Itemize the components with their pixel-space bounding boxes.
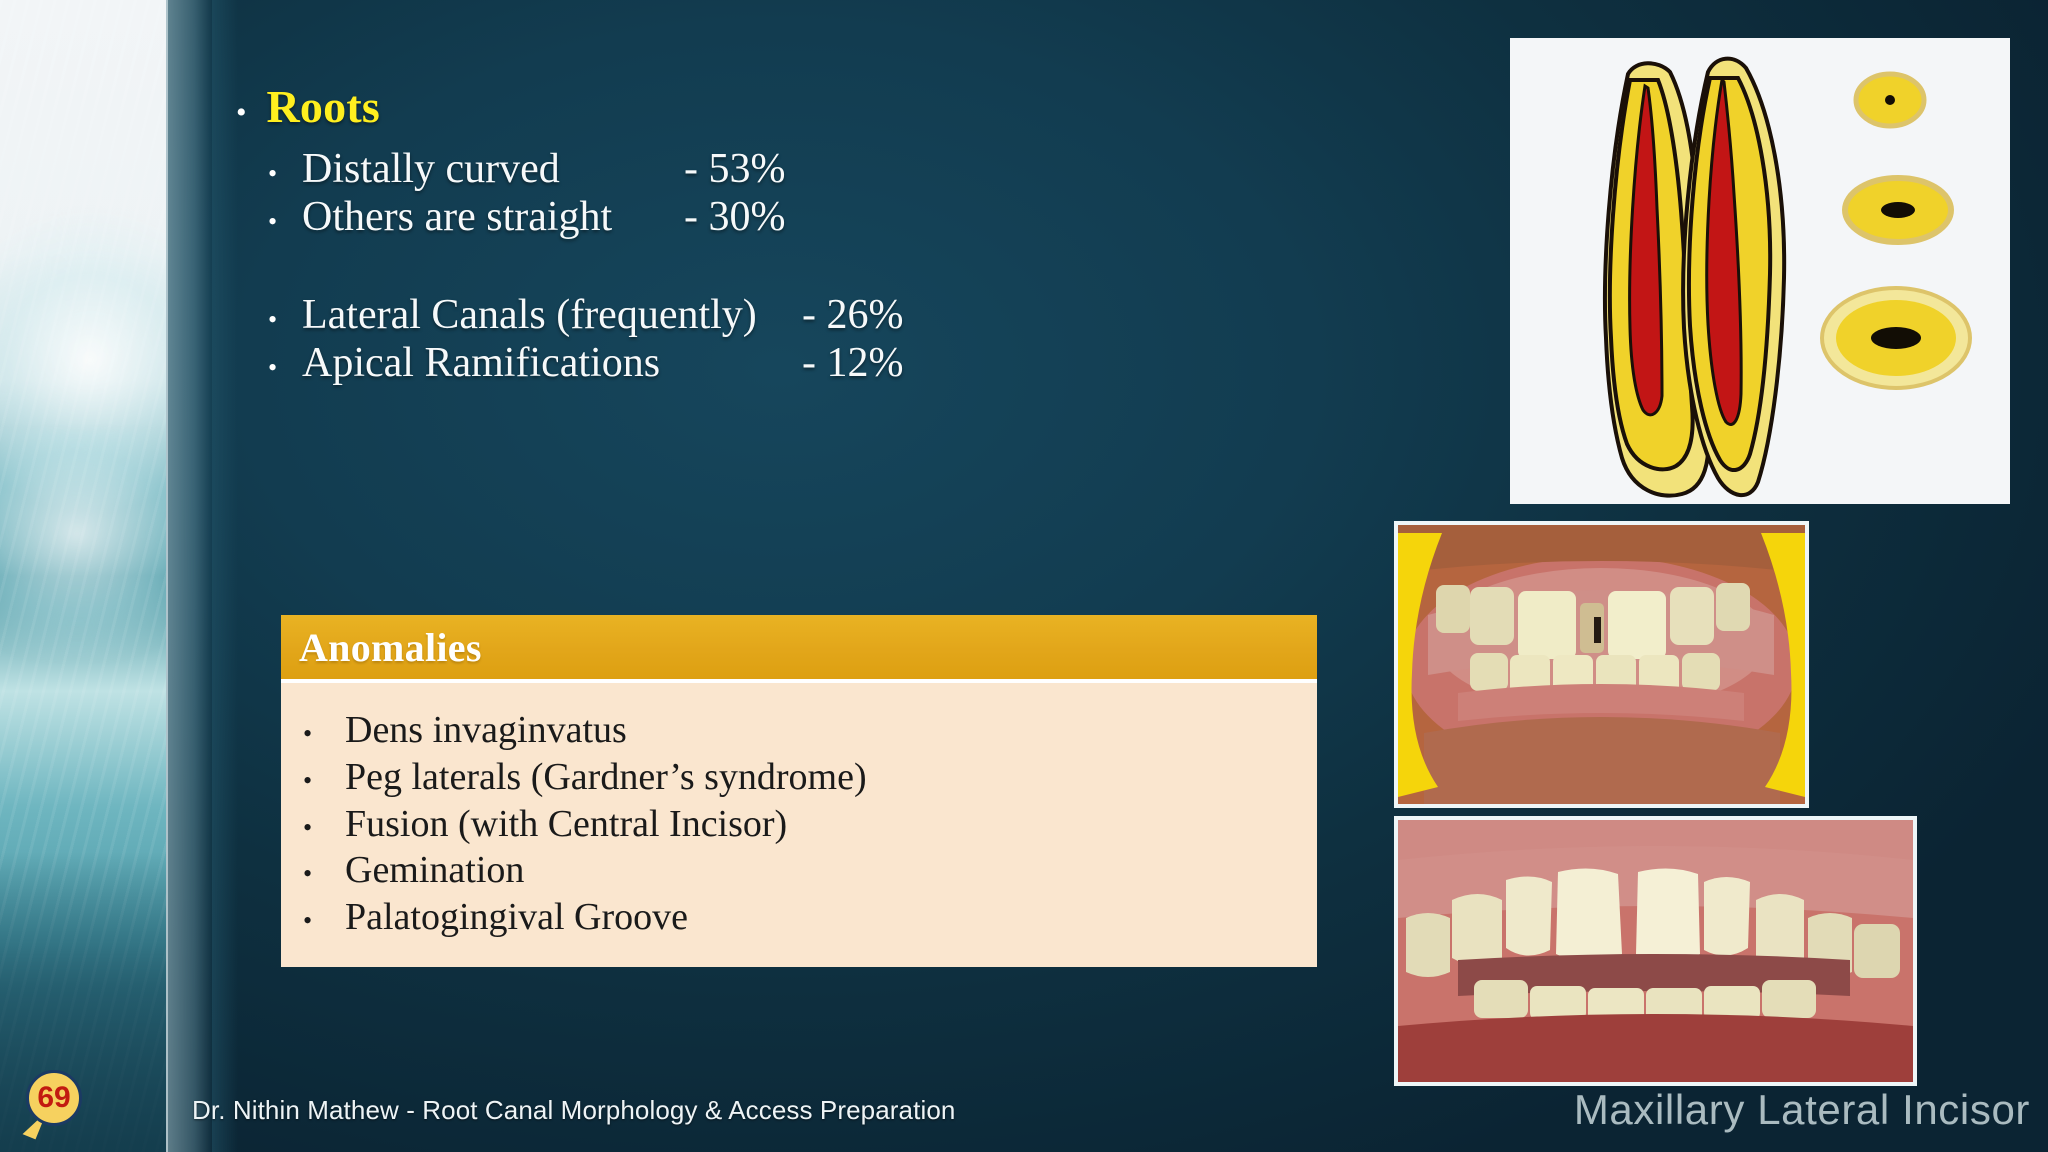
- clinical-photo-retractors: [1394, 521, 1809, 808]
- photo2-lower-incisor: [1530, 986, 1586, 1020]
- tooth-diagram-image: [1510, 38, 2010, 504]
- photo2-peg-lateral-left: [1506, 876, 1552, 955]
- bullet-dot-icon: •: [303, 906, 345, 937]
- cross-section-apical-canal: [1885, 95, 1895, 105]
- cross-section-cervical-canal: [1871, 327, 1921, 349]
- badge-bubble-icon: 69: [26, 1070, 82, 1126]
- photo1-lower-lip: [1424, 717, 1780, 804]
- anomalies-panel-header: Anomalies: [281, 615, 1317, 679]
- clinical-photo-2-svg: [1398, 820, 1913, 1082]
- photo2-canine-left: [1452, 894, 1502, 966]
- stat-label: Others are straight: [302, 193, 612, 241]
- list-item: • Gemination: [281, 847, 1317, 894]
- photo2-premolar-left: [1406, 913, 1450, 977]
- photo2-canine-right: [1756, 894, 1804, 966]
- slide-body: • Roots • Distally curved - 53% • Others…: [236, 0, 1416, 1152]
- stat-row: • Lateral Canals (frequently) - 26%: [268, 291, 1268, 339]
- bullet-dot-icon: •: [268, 209, 302, 235]
- photo1-diastema-gap: [1594, 617, 1601, 643]
- bullet-dot-icon: •: [303, 813, 345, 844]
- stat-row: • Apical Ramifications - 12%: [268, 339, 1268, 387]
- bullet-dot-icon: •: [268, 307, 302, 333]
- stat-value: - 26%: [802, 291, 903, 339]
- photo2-central-incisor-right: [1636, 868, 1700, 962]
- list-item-label: Gemination: [345, 848, 524, 893]
- bullet-dot-icon: •: [303, 719, 345, 750]
- footer-attribution: Dr. Nithin Mathew - Root Canal Morpholog…: [192, 1095, 955, 1126]
- clinical-photo-1-svg: [1398, 525, 1805, 804]
- slide-number-badge: 69: [10, 1070, 82, 1144]
- slide-number-label: 69: [37, 1083, 70, 1113]
- list-item: • Palatogingival Groove: [281, 894, 1317, 941]
- translucent-band: [166, 0, 212, 1152]
- anomalies-panel-title: Anomalies: [299, 624, 482, 671]
- translucent-band-shadow: [212, 0, 238, 1152]
- cross-section-middle-canal: [1881, 202, 1915, 218]
- stat-label: Lateral Canals (frequently): [302, 291, 757, 339]
- stat-label: Distally curved: [302, 145, 560, 193]
- list-item-label: Dens invaginvatus: [345, 708, 627, 753]
- bullet-dot-icon: •: [268, 355, 302, 381]
- photo2-peg-lateral-right: [1704, 877, 1750, 956]
- heading-roots: • Roots: [236, 80, 380, 133]
- bullet-dot-icon: •: [268, 161, 302, 187]
- list-item: • Dens invaginvatus: [281, 707, 1317, 754]
- stat-label: Apical Ramifications: [302, 339, 660, 387]
- list-item: • Peg laterals (Gardner’s syndrome): [281, 754, 1317, 801]
- anomalies-list: • Dens invaginvatus • Peg laterals (Gard…: [281, 707, 1317, 941]
- heading-roots-label: Roots: [267, 80, 380, 133]
- tooth-diagram-svg: [1510, 38, 2010, 504]
- photo1-upper-central-left: [1518, 591, 1576, 659]
- list-item-label: Palatogingival Groove: [345, 895, 688, 940]
- stat-row: • Distally curved - 53%: [268, 145, 1168, 193]
- list-item-label: Fusion (with Central Incisor): [345, 802, 787, 847]
- photo2-central-incisor-left: [1556, 868, 1622, 962]
- photo1-lower-canine-right: [1682, 653, 1720, 691]
- photo1-upper-lateral-left: [1470, 587, 1514, 645]
- bullet-dot-icon: •: [303, 766, 345, 797]
- list-item: • Fusion (with Central Incisor): [281, 801, 1317, 848]
- photo2-posterior-right: [1854, 924, 1900, 978]
- photo2-lower-canine-left: [1474, 980, 1528, 1018]
- stat-row: • Others are straight - 30%: [268, 193, 1168, 241]
- list-item-label: Peg laterals (Gardner’s syndrome): [345, 755, 867, 800]
- photo1-upper-canine-right: [1716, 583, 1750, 631]
- photo2-lower-lip: [1398, 1014, 1913, 1082]
- stat-value: - 12%: [802, 339, 903, 387]
- photo1-upper-lateral-right: [1670, 587, 1714, 645]
- slide-topic-title: Maxillary Lateral Incisor: [1574, 1086, 2030, 1134]
- ocean-wave-image: [0, 0, 166, 1152]
- bullet-dot-icon: •: [303, 859, 345, 890]
- bullet-dot-icon: •: [236, 98, 247, 128]
- slide-canvas: • Roots • Distally curved - 53% • Others…: [0, 0, 2048, 1152]
- photo1-upper-canine-left: [1436, 585, 1470, 633]
- stat-value: - 30%: [684, 193, 785, 241]
- photo2-lower-canine-right: [1762, 980, 1816, 1018]
- anomalies-panel-body: • Dens invaginvatus • Peg laterals (Gard…: [281, 679, 1317, 967]
- clinical-photo-peg-laterals: [1394, 816, 1917, 1086]
- anomalies-panel: Anomalies • Dens invaginvatus • Peg late…: [281, 615, 1317, 967]
- stat-value: - 53%: [684, 145, 785, 193]
- photo1-upper-central-right: [1608, 591, 1666, 659]
- photo1-lower-canine-left: [1470, 653, 1508, 691]
